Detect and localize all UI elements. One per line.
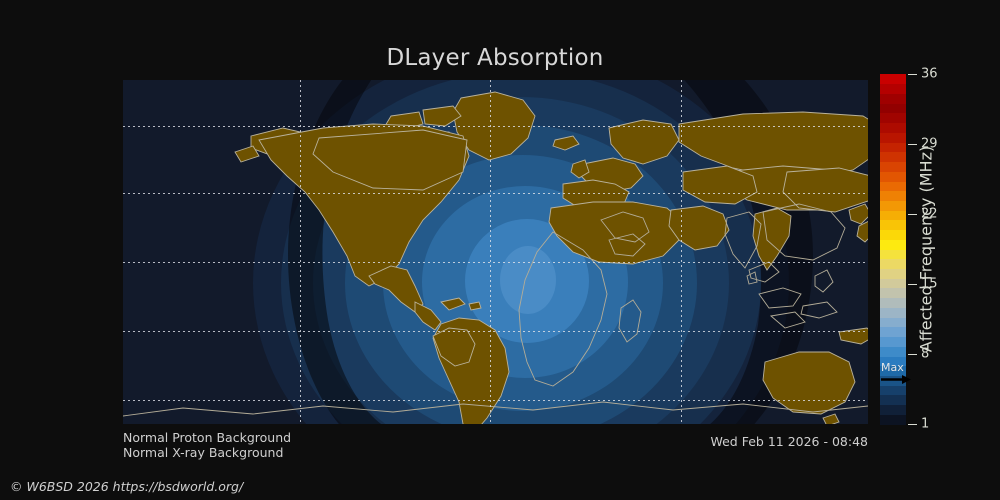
colorbar-segment	[880, 405, 906, 415]
colorbar-segment	[880, 327, 906, 337]
colorbar-segment	[880, 385, 906, 395]
colorbar-segment	[880, 220, 906, 230]
colorbar-segment	[880, 210, 906, 220]
colorbar-segment	[880, 346, 906, 356]
colorbar-segment	[880, 142, 906, 152]
colorbar-segment	[880, 259, 906, 269]
colorbar-segment	[880, 123, 906, 133]
colorbar-segment	[880, 317, 906, 327]
page-title: DLayer Absorption	[0, 45, 990, 71]
colorbar-segment	[880, 375, 906, 385]
colorbar-segment	[880, 103, 906, 113]
colorbar-segment	[880, 307, 906, 317]
dlayer-absorption-figure: DLayer Absorption	[0, 0, 1000, 500]
colorbar-segment	[880, 74, 906, 84]
colorbar-segment	[880, 337, 906, 347]
colorbar-segment	[880, 288, 906, 298]
colorbar-segment	[880, 395, 906, 405]
colorbar: 1815222936 Max	[880, 74, 906, 424]
colorbar-segment	[880, 278, 906, 288]
colorbar-segment	[880, 191, 906, 201]
colorbar-segment	[880, 171, 906, 181]
colorbar-segment	[880, 132, 906, 142]
colorbar-segment	[880, 298, 906, 308]
copyright-notice: © W6BSD 2026 https://bsdworld.org/	[10, 479, 243, 494]
colorbar-segment	[880, 93, 906, 103]
colorbar-axis-label: Affected Frequency (MHz)	[915, 74, 937, 424]
colorbar-segment	[880, 239, 906, 249]
colorbar-segment	[880, 113, 906, 123]
colorbar-segment	[880, 268, 906, 278]
colorbar-segment	[880, 152, 906, 162]
timestamp: Wed Feb 11 2026 - 08:48	[710, 434, 868, 449]
colorbar-segment	[880, 84, 906, 94]
colorbar-segment	[880, 249, 906, 259]
xray-background-note: Normal X-ray Background	[123, 445, 283, 460]
colorbar-segment	[880, 200, 906, 210]
map-canvas	[123, 80, 868, 424]
colorbar-segment	[880, 181, 906, 191]
proton-background-note: Normal Proton Background	[123, 430, 291, 445]
colorbar-segment	[880, 162, 906, 172]
colorbar-segment	[880, 366, 906, 376]
colorbar-segment	[880, 230, 906, 240]
world-map	[123, 80, 868, 424]
colorbar-segment	[880, 356, 906, 366]
colorbar-segment	[880, 414, 906, 424]
colorbar-tick	[908, 424, 917, 425]
colorbar-axis-label-text: Affected Frequency (MHz)	[917, 146, 936, 352]
